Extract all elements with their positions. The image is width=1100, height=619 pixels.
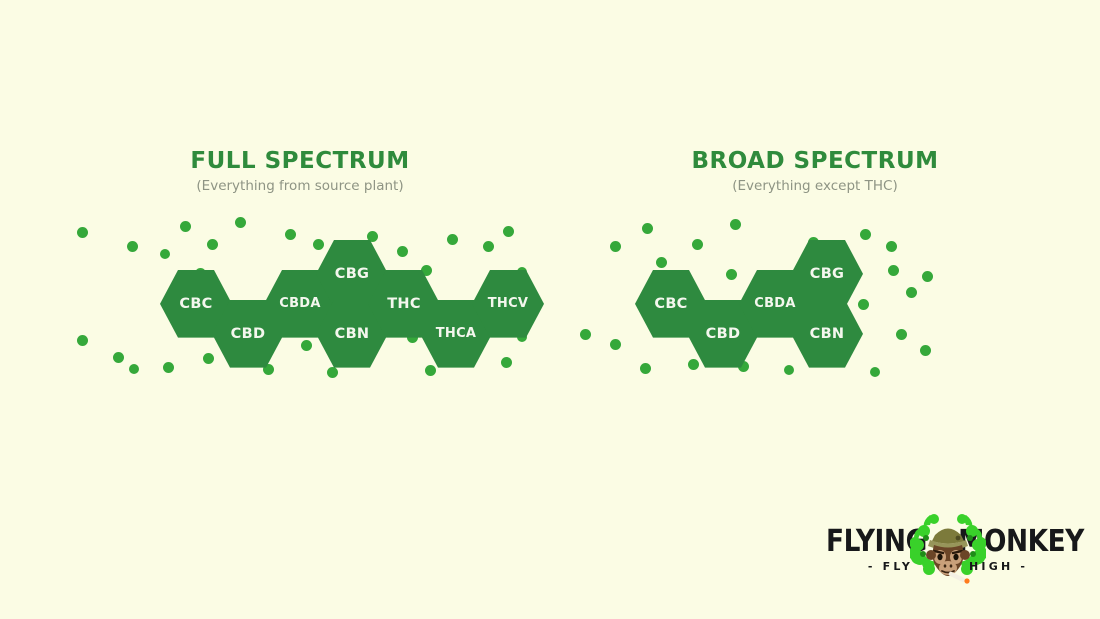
cannabinoid-dot	[77, 227, 88, 238]
cannabinoid-dot	[860, 229, 871, 240]
cannabinoid-dot	[610, 241, 621, 252]
panel-heading-group: BROAD SPECTRUM (Everything except THC)	[575, 148, 1055, 195]
cannabinoid-hexagon-thcv: THCV	[472, 270, 544, 338]
cannabinoid-dot	[127, 241, 138, 252]
hexagon-shape	[791, 240, 863, 308]
cannabinoid-dot	[726, 269, 737, 280]
cannabinoid-dot	[235, 217, 246, 228]
panel-title: BROAD SPECTRUM	[575, 148, 1055, 174]
panel-full-spectrum: FULL SPECTRUM (Everything from source pl…	[60, 0, 540, 619]
cannabinoid-dot	[886, 241, 897, 252]
cannabinoid-hexagon-cbg: CBG	[791, 240, 863, 308]
panel-subtitle: (Everything from source plant)	[60, 178, 540, 194]
brand-tagline-right: HIGH -	[969, 560, 1028, 573]
brand-tagline-left: - FLY	[868, 560, 913, 573]
cannabinoid-hexagon-cbn: CBN	[791, 300, 863, 368]
cannabinoid-dot	[888, 265, 899, 276]
cannabinoid-dot	[896, 329, 907, 340]
cannabinoid-dot	[129, 364, 139, 374]
molecule-field-full-spectrum: CBCCBDCBDACBGCBNTHCTHCATHCV	[60, 222, 540, 392]
cannabinoid-dot	[692, 239, 703, 250]
panel-subtitle: (Everything except THC)	[575, 178, 1055, 194]
cannabinoid-dot	[327, 367, 338, 378]
cannabinoid-dot	[503, 226, 514, 237]
cannabinoid-dot	[285, 229, 296, 240]
cannabinoid-dot	[483, 241, 494, 252]
cannabinoid-dot	[642, 223, 653, 234]
cannabinoid-dot	[906, 287, 917, 298]
cannabinoid-dot	[447, 234, 458, 245]
cannabinoid-dot	[922, 271, 933, 282]
cannabinoid-dot	[656, 257, 667, 268]
brand-logo: FLYING MONKEY	[826, 505, 1070, 587]
cannabinoid-dot	[610, 339, 621, 350]
hexagon-shape	[791, 300, 863, 368]
cannabinoid-dot	[920, 345, 931, 356]
cannabinoid-dot	[301, 340, 312, 351]
cannabinoid-dot	[160, 249, 170, 259]
cannabinoid-dot	[180, 221, 191, 232]
brand-tagline: - FLYHIGH -	[826, 560, 1070, 573]
panel-heading-group: FULL SPECTRUM (Everything from source pl…	[60, 148, 540, 195]
cannabinoid-dot	[397, 246, 408, 257]
hexagon-shape	[472, 270, 544, 338]
cannabinoid-dot	[113, 352, 124, 363]
cannabinoid-dot	[730, 219, 741, 230]
cannabinoid-dot	[77, 335, 88, 346]
molecule-field-broad-spectrum: CBCCBDCBDACBGCBN	[575, 222, 1055, 392]
cannabinoid-dot	[163, 362, 174, 373]
panel-title: FULL SPECTRUM	[60, 148, 540, 174]
monkey-mascot-icon	[910, 505, 986, 585]
infographic-canvas: FULL SPECTRUM (Everything from source pl…	[0, 0, 1100, 619]
cannabinoid-dot	[580, 329, 591, 340]
cannabinoid-dot	[870, 367, 880, 377]
cannabinoid-dot	[640, 363, 651, 374]
cannabinoid-dot	[207, 239, 218, 250]
cannabinoid-dot	[501, 357, 512, 368]
